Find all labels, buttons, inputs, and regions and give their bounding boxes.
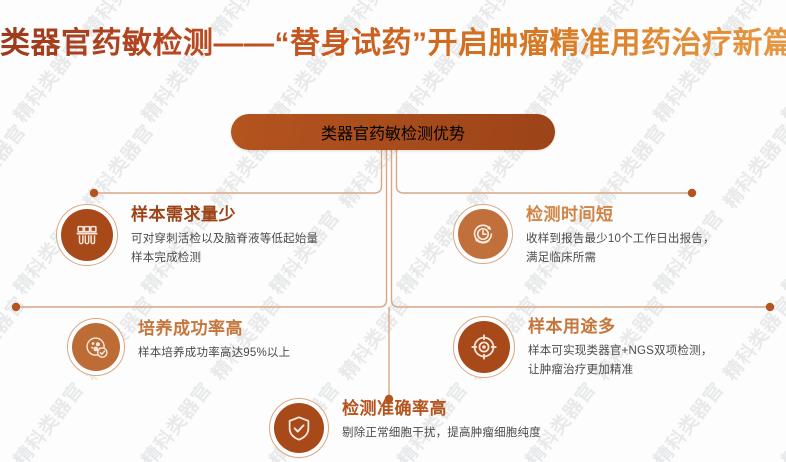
desc-line: 样本培养成功率高达95%以上 [138,344,290,363]
feature-title: 检测时间短 [526,204,715,225]
icon-ring [453,316,515,378]
icon-ring [269,398,329,458]
title-bar: 类器官药敏检测——“替身试药”开启肿瘤精准用药治疗新篇章 [0,26,786,62]
feature-text: 检测时间短 收样到报告最少10个工作日出报告， 满足临床所需 [513,204,715,268]
feature-title: 样本需求量少 [131,204,318,225]
feature-title: 检测准确率高 [342,398,541,419]
desc-line: 样本可实现类器官+NGS双项检测， [528,342,713,361]
feature-text: 培养成功率高 样本培养成功率高达95%以上 [125,318,290,363]
icon-ring [453,204,513,264]
feature-text: 样本需求量少 可对穿刺活检以及脑脊液等低起始量 样本完成检测 [118,204,318,268]
page-title: 类器官药敏检测——“替身试药”开启肿瘤精准用药治疗新篇章 [0,26,786,62]
desc-line: 满足临床所需 [526,249,715,268]
shield-check-icon [274,403,324,453]
infographic-page: 精科类器官精科类器官精科类器官精科类器官精科类器官精科类器官精科类器官精科类器官… [0,0,786,462]
desc-line: 可对穿刺活检以及脑脊液等低起始量 [131,230,318,249]
feature-turnaround-time: 检测时间短 收样到报告最少10个工作日出报告， 满足临床所需 [453,204,715,268]
cell-culture-check-icon [72,323,120,371]
feature-description: 样本培养成功率高达95%以上 [138,344,290,363]
clock-refresh-icon [458,209,508,259]
desc-line: 剔除正常细胞干扰，提高肿瘤细胞纯度 [342,424,541,443]
test-tube-rack-icon [61,209,113,261]
feature-description: 样本可实现类器官+NGS双项检测， 让肿瘤治疗更加精准 [528,342,713,379]
icon-ring [67,318,125,376]
feature-sample-usage: 样本用途多 样本可实现类器官+NGS双项检测， 让肿瘤治疗更加精准 [453,316,713,380]
center-badge: 类器官药敏检测优势 [231,114,555,150]
desc-line: 让肿瘤治疗更加精准 [528,361,713,380]
feature-culture-success-rate: 培养成功率高 样本培养成功率高达95%以上 [67,318,290,376]
feature-title: 样本用途多 [528,316,713,337]
icon-ring [56,204,118,266]
feature-text: 检测准确率高 剔除正常细胞干扰，提高肿瘤细胞纯度 [329,398,541,443]
feature-description: 剔除正常细胞干扰，提高肿瘤细胞纯度 [342,424,541,443]
feature-description: 收样到报告最少10个工作日出报告， 满足临床所需 [526,230,715,267]
feature-text: 样本用途多 样本可实现类器官+NGS双项检测， 让肿瘤治疗更加精准 [515,316,713,380]
feature-description: 可对穿刺活检以及脑脊液等低起始量 样本完成检测 [131,230,318,267]
feature-title: 培养成功率高 [138,318,290,339]
desc-line: 收样到报告最少10个工作日出报告， [526,230,715,249]
feature-detection-accuracy: 检测准确率高 剔除正常细胞干扰，提高肿瘤细胞纯度 [269,398,541,458]
feature-sample-demand: 样本需求量少 可对穿刺活检以及脑脊液等低起始量 样本完成检测 [56,204,318,268]
desc-line: 样本完成检测 [131,249,318,268]
center-badge-label: 类器官药敏检测优势 [321,120,465,144]
target-crosshair-icon [458,321,510,373]
